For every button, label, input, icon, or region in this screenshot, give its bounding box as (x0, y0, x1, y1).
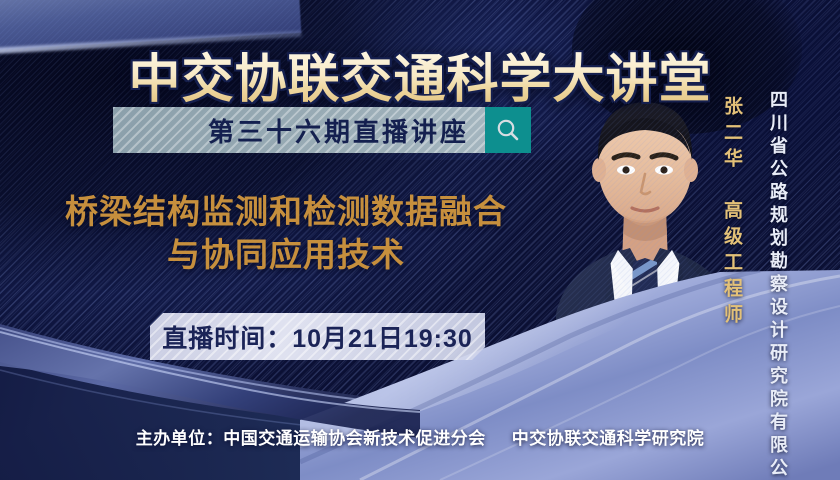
speaker-name-and-title: 张二华 高级工程师 (718, 96, 745, 330)
livestream-time-badge: 直播时间：10月21日19:30 (150, 313, 485, 360)
lecture-topic: 桥梁结构监测和检测数据融合 与协同应用技术 (26, 190, 546, 276)
organizer-2: 中交协联交通科学研究院 (512, 429, 705, 448)
organizer-1: 中国交通运输协会新技术促进分会 (223, 429, 486, 448)
episode-banner-panel: 第三十六期直播讲座 (113, 107, 485, 153)
lecture-topic-line2: 与协同应用技术 (26, 233, 546, 276)
speaker-organization: 四川省公路规划勘察设计研究院有限公司 (765, 90, 791, 480)
poster-canvas: 中交协联交通科学大讲堂 第三十六期直播讲座 桥梁结构监测和检测数据融合 与协同应… (0, 0, 840, 480)
page-title: 中交协联交通科学大讲堂 (0, 51, 840, 109)
livestream-time-text: 直播时间：10月21日19:30 (162, 319, 473, 355)
search-icon[interactable] (485, 107, 531, 153)
organizers-footer: 主办单位：中国交通运输协会新技术促进分会中交协联交通科学研究院 (0, 424, 840, 449)
organizers-prefix: 主办单位： (136, 429, 224, 448)
lecture-topic-line1: 桥梁结构监测和检测数据融合 (65, 193, 507, 230)
episode-banner: 第三十六期直播讲座 (113, 107, 531, 153)
episode-label: 第三十六期直播讲座 (113, 107, 485, 153)
